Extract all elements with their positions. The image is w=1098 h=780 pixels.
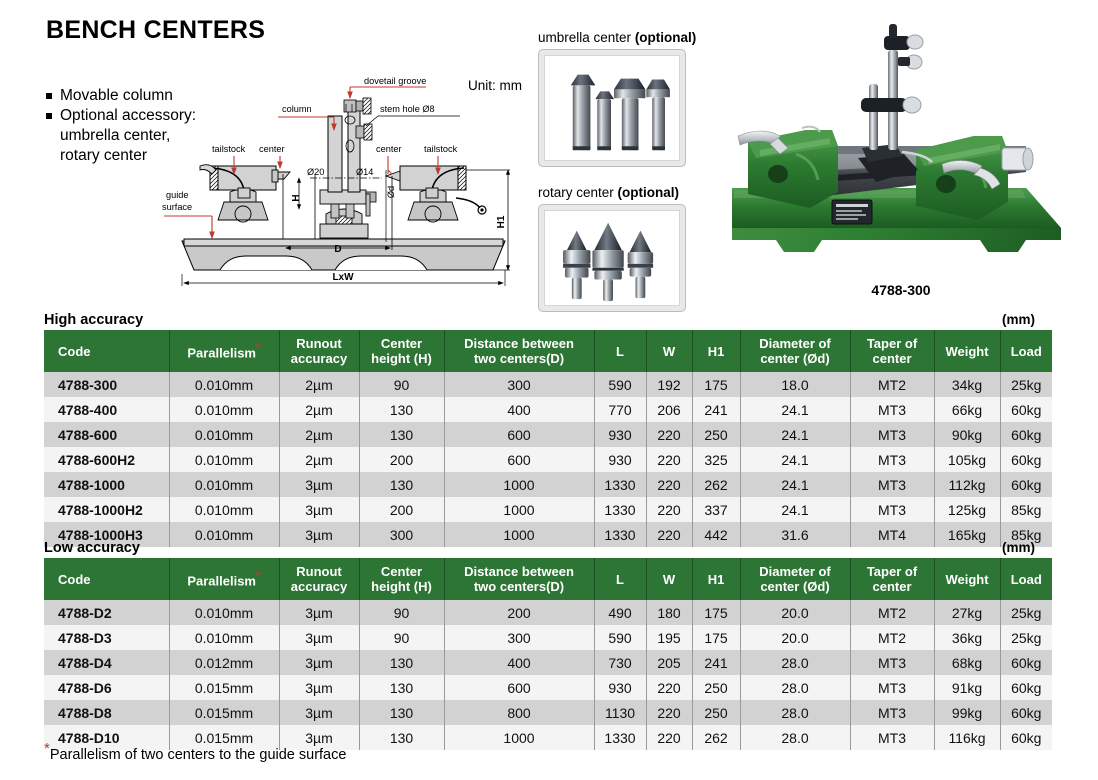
dim-od-text: Ød <box>386 186 396 198</box>
table-cell: 220 <box>646 675 692 700</box>
table-cell: 90kg <box>934 422 1000 447</box>
label-guide-surface-1: guide <box>166 190 188 200</box>
col-runout-accuracy: Runoutaccuracy <box>279 558 359 600</box>
table-cell: 220 <box>646 447 692 472</box>
col-l: L <box>594 558 646 600</box>
table-cell: 165kg <box>934 522 1000 547</box>
table-cell: 99kg <box>934 700 1000 725</box>
table-cell: 85kg <box>1000 497 1052 522</box>
table-cell: 241 <box>692 650 740 675</box>
table-cell: 220 <box>646 522 692 547</box>
table-cell: 195 <box>646 625 692 650</box>
cell-code: 4788-400 <box>44 397 169 422</box>
accessory-frame <box>538 49 686 167</box>
table-cell: 220 <box>646 472 692 497</box>
table-cell: 600 <box>444 447 594 472</box>
dim-h-text: H <box>291 194 302 201</box>
table-cell: 800 <box>444 700 594 725</box>
col-distance-between-centers: Distance betweentwo centers(D) <box>444 330 594 372</box>
table-cell: 2µm <box>279 397 359 422</box>
cell-code: 4788-1000 <box>44 472 169 497</box>
footnote-asterisk: * <box>256 341 261 355</box>
table-cell: 0.010mm <box>169 422 279 447</box>
table-cell: MT3 <box>850 447 934 472</box>
label-tailstock-right: tailstock <box>424 144 458 154</box>
table-cell: 20.0 <box>740 625 850 650</box>
table-row: 4788-D30.010mm3µm9030059019517520.0MT236… <box>44 625 1052 650</box>
table-cell: 130 <box>359 725 444 750</box>
technical-drawing: Ø20 Ø14 H D Ød H1 LxW dovetail groove st… <box>160 74 535 299</box>
product-photo-caption: 4788-300 <box>726 282 1076 298</box>
table-cell: 175 <box>692 600 740 625</box>
table-cell: 2µm <box>279 447 359 472</box>
accessory-frame <box>538 204 686 312</box>
table-cell: 91kg <box>934 675 1000 700</box>
label-center-left: center <box>259 144 285 154</box>
table-cell: 930 <box>594 675 646 700</box>
table-cell: 220 <box>646 725 692 750</box>
table-row: 4788-600H20.010mm2µm20060093022032524.1M… <box>44 447 1052 472</box>
table-header-row: Code Parallelism* Runoutaccuracy Centerh… <box>44 558 1052 600</box>
table-cell: 28.0 <box>740 650 850 675</box>
table-cell: 590 <box>594 372 646 397</box>
table-cell: 1330 <box>594 497 646 522</box>
accessory-optional-tag: (optional) <box>618 185 679 200</box>
col-l: L <box>594 330 646 372</box>
table-cell: 31.6 <box>740 522 850 547</box>
table-cell: 34kg <box>934 372 1000 397</box>
accessory-caption: rotary center (optional) <box>538 185 686 200</box>
table-cell: MT3 <box>850 650 934 675</box>
table-cell: 0.010mm <box>169 472 279 497</box>
table-cell: 3µm <box>279 600 359 625</box>
accessory-image <box>544 55 680 161</box>
table-row: 4788-D20.010mm3µm9020049018017520.0MT227… <box>44 600 1052 625</box>
table-cell: 1000 <box>444 522 594 547</box>
table-cell: 1000 <box>444 725 594 750</box>
table-cell: 1330 <box>594 522 646 547</box>
col-load: Load <box>1000 330 1052 372</box>
table-cell: 1130 <box>594 700 646 725</box>
label-tailstock-left: tailstock <box>212 144 246 154</box>
table-cell: 20.0 <box>740 600 850 625</box>
dim-d14-text: Ø14 <box>356 167 373 177</box>
table-cell: 130 <box>359 675 444 700</box>
table-body-high-accuracy: 4788-3000.010mm2µm9030059019217518.0MT23… <box>44 372 1052 547</box>
col-weight: Weight <box>934 330 1000 372</box>
table-cell: 0.015mm <box>169 700 279 725</box>
label-center-right: center <box>376 144 402 154</box>
table-cell: 250 <box>692 422 740 447</box>
table-cell: 0.010mm <box>169 625 279 650</box>
table-cell: 400 <box>444 650 594 675</box>
table-cell: 60kg <box>1000 397 1052 422</box>
table-high-accuracy: Code Parallelism* Runoutaccuracy Centerh… <box>44 330 1052 547</box>
table-cell: 90 <box>359 600 444 625</box>
cell-code: 4788-D4 <box>44 650 169 675</box>
product-photo <box>726 22 1076 272</box>
table-cell: 262 <box>692 725 740 750</box>
table-cell: 60kg <box>1000 422 1052 447</box>
footnote-text: Parallelism of two centers to the guide … <box>50 747 347 763</box>
cell-code: 4788-D3 <box>44 625 169 650</box>
table-cell: 28.0 <box>740 725 850 750</box>
table-cell: 600 <box>444 422 594 447</box>
table-cell: MT2 <box>850 372 934 397</box>
table-cell: 930 <box>594 447 646 472</box>
table-cell: 0.010mm <box>169 372 279 397</box>
table-cell: 60kg <box>1000 675 1052 700</box>
table-cell: 241 <box>692 397 740 422</box>
footnote: *Parallelism of two centers to the guide… <box>44 740 346 763</box>
dim-d20-text: Ø20 <box>307 167 324 177</box>
bullet-icon <box>46 113 52 119</box>
col-h1: H1 <box>692 330 740 372</box>
table-cell: 400 <box>444 397 594 422</box>
table-cell: 24.1 <box>740 447 850 472</box>
accessory-name: rotary center <box>538 185 614 200</box>
table-row: 4788-D80.015mm3µm130800113022025028.0MT3… <box>44 700 1052 725</box>
table-cell: 1000 <box>444 472 594 497</box>
table-cell: 90 <box>359 625 444 650</box>
table-cell: 27kg <box>934 600 1000 625</box>
table-cell: 125kg <box>934 497 1000 522</box>
table-cell: 175 <box>692 372 740 397</box>
table-cell: 0.012mm <box>169 650 279 675</box>
table-cell: 28.0 <box>740 675 850 700</box>
col-distance-between-centers: Distance betweentwo centers(D) <box>444 558 594 600</box>
table-row: 4788-D60.015mm3µm13060093022025028.0MT39… <box>44 675 1052 700</box>
bullet-icon <box>46 93 52 99</box>
table-cell: 25kg <box>1000 372 1052 397</box>
table-cell: 0.010mm <box>169 447 279 472</box>
col-runout-accuracy: Runoutaccuracy <box>279 330 359 372</box>
table-header-row: Code Parallelism* Runoutaccuracy Centerh… <box>44 330 1052 372</box>
page-title: BENCH CENTERS <box>46 16 265 45</box>
table-cell: 3µm <box>279 522 359 547</box>
table-cell: 200 <box>359 447 444 472</box>
table-cell: 3µm <box>279 625 359 650</box>
cell-code: 4788-600 <box>44 422 169 447</box>
table-cell: 1000 <box>444 497 594 522</box>
table-cell: MT3 <box>850 725 934 750</box>
table-row: 4788-1000H20.010mm3µm2001000133022033724… <box>44 497 1052 522</box>
table-row: 4788-3000.010mm2µm9030059019217518.0MT23… <box>44 372 1052 397</box>
cell-code: 4788-D6 <box>44 675 169 700</box>
accessory-caption: umbrella center (optional) <box>538 30 696 45</box>
table-cell: 0.015mm <box>169 675 279 700</box>
table-cell: 192 <box>646 372 692 397</box>
table-cell: 250 <box>692 700 740 725</box>
table-cell: 0.010mm <box>169 522 279 547</box>
section-heading-high-accuracy: High accuracy <box>44 312 143 328</box>
col-diameter-of-center: Diameter ofcenter (Ød) <box>740 558 850 600</box>
col-weight: Weight <box>934 558 1000 600</box>
table-cell: 0.010mm <box>169 600 279 625</box>
table-cell: 105kg <box>934 447 1000 472</box>
table-cell: 36kg <box>934 625 1000 650</box>
section-heading-low-accuracy: Low accuracy <box>44 540 140 556</box>
col-w: W <box>646 330 692 372</box>
accessory-optional-tag: (optional) <box>635 30 696 45</box>
table-cell: 590 <box>594 625 646 650</box>
col-code: Code <box>44 558 169 600</box>
table-cell: 180 <box>646 600 692 625</box>
table-cell: 250 <box>692 675 740 700</box>
label-column: column <box>282 104 312 114</box>
table-cell: 300 <box>444 372 594 397</box>
table-cell: 60kg <box>1000 472 1052 497</box>
table-cell: 200 <box>444 600 594 625</box>
table-cell: 60kg <box>1000 447 1052 472</box>
table-cell: MT3 <box>850 497 934 522</box>
table-cell: 770 <box>594 397 646 422</box>
table-row: 4788-4000.010mm2µm13040077020624124.1MT3… <box>44 397 1052 422</box>
table-cell: MT3 <box>850 700 934 725</box>
table-cell: 1330 <box>594 472 646 497</box>
table-cell: 60kg <box>1000 725 1052 750</box>
table-cell: MT4 <box>850 522 934 547</box>
table-cell: 24.1 <box>740 497 850 522</box>
col-code: Code <box>44 330 169 372</box>
table-cell: 2µm <box>279 372 359 397</box>
table-cell: 337 <box>692 497 740 522</box>
col-center-height: Centerheight (H) <box>359 558 444 600</box>
cell-code: 4788-600H2 <box>44 447 169 472</box>
cell-code: 4788-300 <box>44 372 169 397</box>
table-cell: 90 <box>359 372 444 397</box>
table-cell: 490 <box>594 600 646 625</box>
col-parallelism: Parallelism* <box>169 558 279 600</box>
table-cell: 130 <box>359 472 444 497</box>
table-cell: 24.1 <box>740 472 850 497</box>
table-cell: 116kg <box>934 725 1000 750</box>
col-diameter-of-center: Diameter ofcenter (Ød) <box>740 330 850 372</box>
table-cell: 442 <box>692 522 740 547</box>
table-cell: 66kg <box>934 397 1000 422</box>
table-cell: 205 <box>646 650 692 675</box>
table-cell: 325 <box>692 447 740 472</box>
cell-code: 4788-1000H2 <box>44 497 169 522</box>
col-h1: H1 <box>692 558 740 600</box>
dim-h1-text: H1 <box>496 215 507 228</box>
label-guide-surface-2: surface <box>162 202 192 212</box>
col-w: W <box>646 558 692 600</box>
table-cell: 220 <box>646 700 692 725</box>
table-cell: MT3 <box>850 397 934 422</box>
table-cell: 130 <box>359 422 444 447</box>
dim-d-text: D <box>334 244 341 255</box>
table-cell: 200 <box>359 497 444 522</box>
table-cell: 3µm <box>279 472 359 497</box>
table-cell: 1330 <box>594 725 646 750</box>
table-cell: 3µm <box>279 497 359 522</box>
table-cell: 3µm <box>279 675 359 700</box>
col-taper-of-center: Taper ofcenter <box>850 558 934 600</box>
cell-code: 4788-D2 <box>44 600 169 625</box>
table-cell: 600 <box>444 675 594 700</box>
table-cell: 730 <box>594 650 646 675</box>
table-cell: 930 <box>594 422 646 447</box>
table-cell: MT3 <box>850 422 934 447</box>
table-cell: 130 <box>359 397 444 422</box>
table-body-low-accuracy: 4788-D20.010mm3µm9020049018017520.0MT227… <box>44 600 1052 750</box>
cell-code: 4788-D8 <box>44 700 169 725</box>
dim-lxw-text: LxW <box>332 272 354 283</box>
table-cell: 25kg <box>1000 600 1052 625</box>
table-cell: 175 <box>692 625 740 650</box>
table-cell: 206 <box>646 397 692 422</box>
table-cell: 130 <box>359 650 444 675</box>
accessory-rotary-center: rotary center (optional) <box>538 185 686 312</box>
table-row: 4788-6000.010mm2µm13060093022025024.1MT3… <box>44 422 1052 447</box>
table-cell: 24.1 <box>740 422 850 447</box>
col-load: Load <box>1000 558 1052 600</box>
table-cell: 220 <box>646 497 692 522</box>
table-row: 4788-10000.010mm3µm1301000133022026224.1… <box>44 472 1052 497</box>
unit-mm-high: (mm) <box>1002 312 1035 327</box>
table-cell: 24.1 <box>740 397 850 422</box>
accessory-umbrella-center: umbrella center (optional) <box>538 30 696 167</box>
table-low-accuracy: Code Parallelism* Runoutaccuracy Centerh… <box>44 558 1052 750</box>
table-cell: 2µm <box>279 422 359 447</box>
feature-label: Movable column <box>60 86 173 106</box>
table-row: 4788-1000H30.010mm3µm3001000133022044231… <box>44 522 1052 547</box>
table-cell: 112kg <box>934 472 1000 497</box>
accessory-name: umbrella center <box>538 30 631 45</box>
table-row: 4788-D40.012mm3µm13040073020524128.0MT36… <box>44 650 1052 675</box>
table-cell: 130 <box>359 700 444 725</box>
table-cell: 25kg <box>1000 625 1052 650</box>
table-cell: 262 <box>692 472 740 497</box>
table-cell: 0.010mm <box>169 397 279 422</box>
label-stem-hole: stem hole Ø8 <box>380 104 435 114</box>
table-cell: 300 <box>359 522 444 547</box>
table-cell: 60kg <box>1000 700 1052 725</box>
accessory-image <box>544 210 680 306</box>
table-cell: 3µm <box>279 700 359 725</box>
table-cell: 68kg <box>934 650 1000 675</box>
col-parallelism: Parallelism* <box>169 330 279 372</box>
table-cell: 28.0 <box>740 700 850 725</box>
table-cell: 3µm <box>279 650 359 675</box>
table-cell: 60kg <box>1000 650 1052 675</box>
label-dovetail-groove: dovetail groove <box>364 76 426 86</box>
footnote-asterisk: * <box>256 569 261 583</box>
col-center-height: Centerheight (H) <box>359 330 444 372</box>
table-cell: MT2 <box>850 625 934 650</box>
table-cell: 18.0 <box>740 372 850 397</box>
col-taper-of-center: Taper ofcenter <box>850 330 934 372</box>
unit-mm-low: (mm) <box>1002 540 1035 555</box>
table-cell: MT3 <box>850 675 934 700</box>
table-cell: MT2 <box>850 600 934 625</box>
table-cell: 0.010mm <box>169 497 279 522</box>
table-cell: 220 <box>646 422 692 447</box>
table-cell: 300 <box>444 625 594 650</box>
table-cell: MT3 <box>850 472 934 497</box>
